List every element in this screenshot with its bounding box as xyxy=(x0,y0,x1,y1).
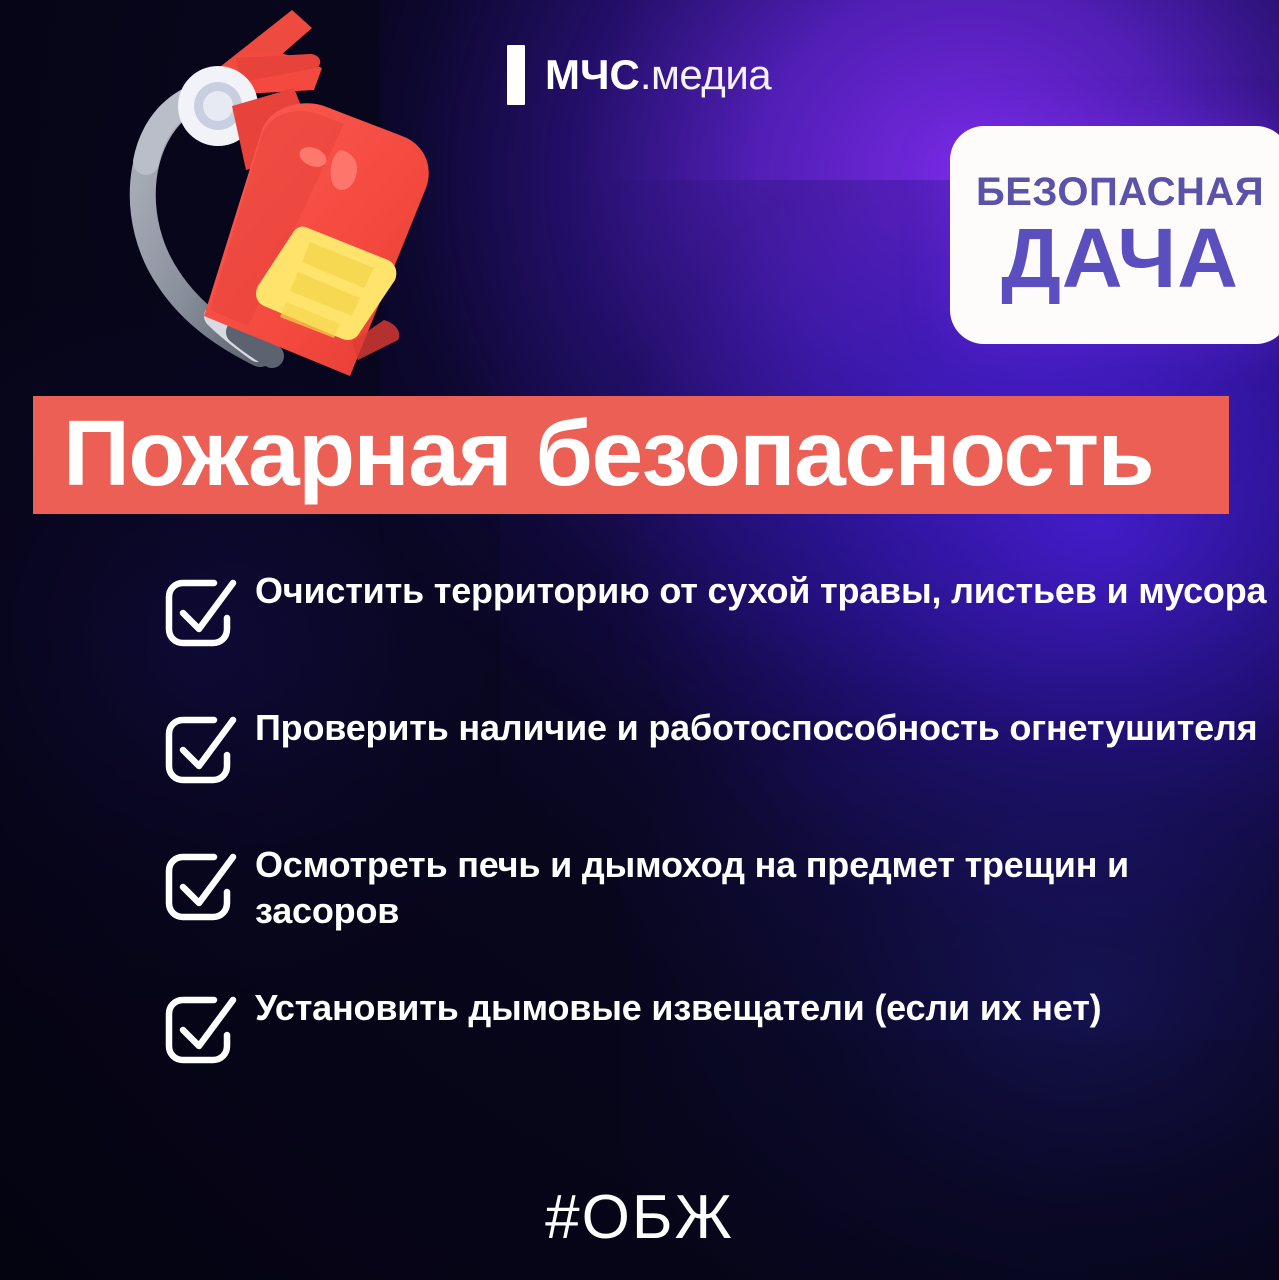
checkbox-check-icon xyxy=(163,989,239,1071)
checkbox-check-icon xyxy=(163,846,239,928)
campaign-badge-line-2: ДАЧА xyxy=(1001,218,1239,299)
brand-logo-bold: МЧС xyxy=(545,51,640,98)
list-item: Проверить наличие и работоспособность ог… xyxy=(163,699,1273,791)
list-item-label: Очистить территорию от сухой травы, лист… xyxy=(255,568,1266,614)
list-item: Установить дымовые извещатели (если их н… xyxy=(163,979,1273,1071)
list-item: Осмотреть печь и дымоход на предмет трещ… xyxy=(163,836,1273,934)
checklist: Очистить территорию от сухой травы, лист… xyxy=(163,562,1273,1116)
list-item-label: Осмотреть печь и дымоход на предмет трещ… xyxy=(255,842,1273,934)
title-banner: Пожарная безопасность xyxy=(33,396,1229,514)
fire-extinguisher-illustration xyxy=(112,10,442,380)
list-item: Очистить территорию от сухой травы, лист… xyxy=(163,562,1273,654)
campaign-badge-card: БЕЗОПАСНАЯ ДАЧА xyxy=(950,126,1279,344)
brand-logo-light: .медиа xyxy=(640,51,771,98)
vertical-bar-icon xyxy=(507,45,525,105)
campaign-badge-line-1: БЕЗОПАСНАЯ xyxy=(976,172,1264,212)
checkbox-check-icon xyxy=(163,709,239,791)
brand-logo-text: МЧС.медиа xyxy=(545,54,771,96)
list-item-label: Проверить наличие и работоспособность ог… xyxy=(255,705,1257,751)
footer-hashtag: #ОБЖ xyxy=(0,1182,1279,1253)
brand-logo: МЧС.медиа xyxy=(507,45,771,105)
poster-root: МЧС.медиа БЕЗОПАСНАЯ ДАЧА Пожарная безоп… xyxy=(0,0,1279,1280)
checkbox-check-icon xyxy=(163,572,239,654)
page-title: Пожарная безопасность xyxy=(33,407,1153,500)
list-item-label: Установить дымовые извещатели (если их н… xyxy=(255,985,1101,1031)
